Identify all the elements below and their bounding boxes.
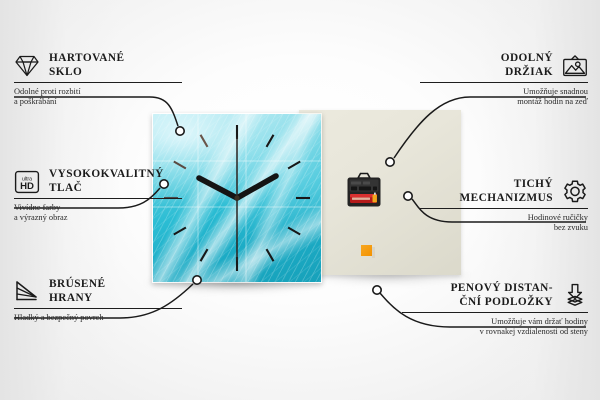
connector-dot-top-left [176,127,184,135]
feature-divider [14,82,182,83]
feature-silent-mechanism: TICHÝMECHANIZMUS Hodinové ručičkybez zvu… [420,178,588,234]
ultra-hd-large-label: HD [20,181,34,192]
feature-description: Umožňuje snadnoumontáž hodin na zeď [420,87,588,108]
feature-divider [14,198,182,199]
feature-description: Vivídne farbya výrazný obraz [14,203,182,224]
feature-durable-hanger: ODOLNÝDRŽIAK Umožňuje snadnoumontáž hodi… [420,52,588,108]
infographic-stage: HARTOVANÉSKLO Odolné proti rozbitía pošk… [0,0,600,400]
beveled-edges-icon [14,279,40,305]
feature-title: HARTOVANÉSKLO [49,52,182,79]
connector-dot-bottom-right [373,286,381,294]
feature-header: ODOLNÝDRŽIAK [420,52,588,79]
feature-divider [14,308,182,309]
ultra-hd-icon: ultra HD [14,169,40,195]
feature-title: VYSOKOKVALITNÝTLAČ [49,168,182,195]
diamond-icon [14,53,40,79]
feature-beveled-edges: BRÚSENÉHRANY Hladký a bezpečný povrch [14,278,182,323]
gear-icon [562,179,588,205]
feature-divider [420,208,588,209]
feature-title: ODOLNÝDRŽIAK [420,52,553,79]
feature-title: TICHÝMECHANIZMUS [420,178,553,205]
foam-spacer-icon [562,283,588,309]
feature-title: BRÚSENÉHRANY [49,278,182,305]
feature-divider [402,312,588,313]
feature-high-quality-print: ultra HD VYSOKOKVALITNÝTLAČ Vivídne farb… [14,168,182,224]
connector-dot-mid-right [404,192,412,200]
connector-dot-bottom-left [193,276,201,284]
feature-header: BRÚSENÉHRANY [14,278,182,305]
picture-hanger-icon [562,53,588,79]
feature-title: PENOVÝ DISTAN-ČNÍ PODLOŽKY [402,282,553,309]
connector-dot-top-right [386,158,394,166]
feature-header: TICHÝMECHANIZMUS [420,178,588,205]
feature-header: HARTOVANÉSKLO [14,52,182,79]
feature-divider [420,82,588,83]
feature-description: Odolné proti rozbitía poškrábání [14,87,182,108]
feature-header: ultra HD VYSOKOKVALITNÝTLAČ [14,168,182,195]
feature-foam-spacers: PENOVÝ DISTAN-ČNÍ PODLOŽKY Umožňuje vám … [402,282,588,338]
feature-description: Hladký a bezpečný povrch [14,313,182,324]
feature-header: PENOVÝ DISTAN-ČNÍ PODLOŽKY [402,282,588,309]
feature-description: Hodinové ručičkybez zvuku [420,213,588,234]
feature-tempered-glass: HARTOVANÉSKLO Odolné proti rozbitía pošk… [14,52,182,108]
feature-description: Umožňuje vám držať hodinyv rovnakej vzdi… [402,317,588,338]
